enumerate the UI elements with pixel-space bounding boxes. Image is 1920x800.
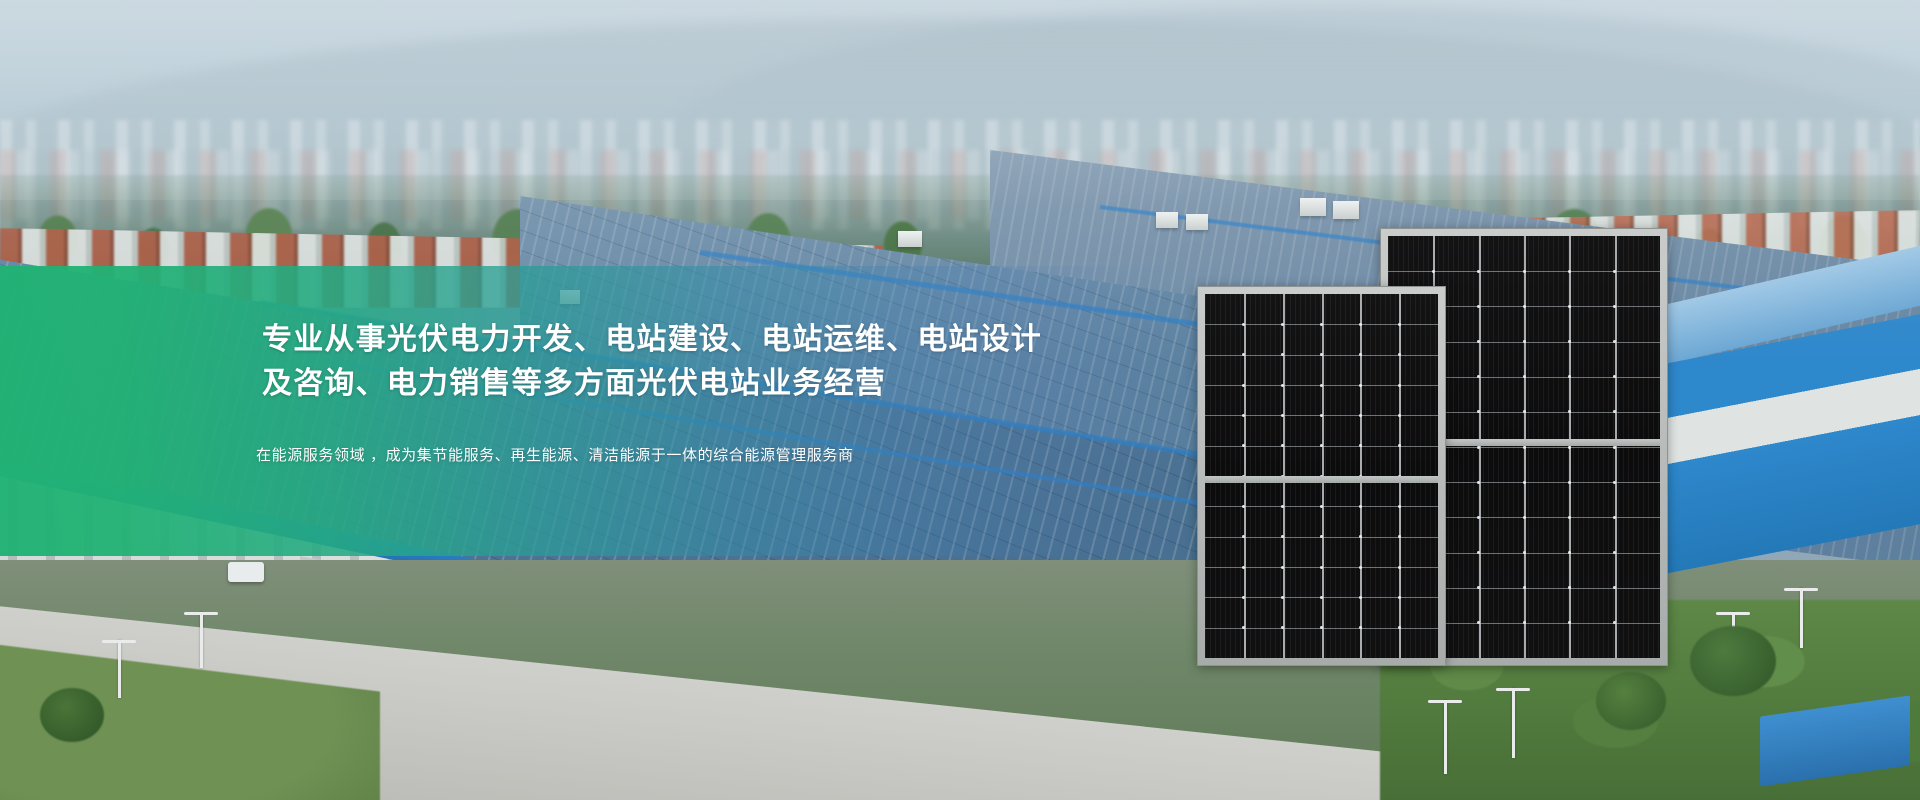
solar-panel-front bbox=[1197, 286, 1446, 666]
rooftop-vent bbox=[1333, 201, 1359, 219]
banner-copy: 专业从事光伏电力开发、电站建设、电站运维、电站设计 及咨询、电力销售等多方面光伏… bbox=[262, 266, 1162, 556]
solar-panel-front-laminate bbox=[1205, 294, 1438, 658]
banner-subheadline: 在能源服务领域 ，成为集节能服务、再生能源、清洁能源于一体的综合能源管理服务商 bbox=[256, 444, 1156, 468]
street-lamp bbox=[1444, 700, 1447, 774]
panel-mid-bar bbox=[1205, 476, 1438, 483]
street-lamp bbox=[118, 640, 121, 698]
hero-banner: 专业从事光伏电力开发、电站建设、电站运维、电站设计 及咨询、电力销售等多方面光伏… bbox=[0, 0, 1920, 800]
rooftop-vent bbox=[1186, 214, 1208, 230]
headline-line-2: 及咨询、电力销售等多方面光伏电站业务经营 bbox=[262, 362, 1142, 406]
rooftop-vent bbox=[1156, 212, 1178, 228]
foreground-tree bbox=[40, 688, 104, 742]
foreground-tree bbox=[1596, 672, 1666, 730]
headline-line-1: 专业从事光伏电力开发、电站建设、电站运维、电站设计 bbox=[262, 318, 1142, 362]
rooftop-vent bbox=[1300, 198, 1326, 216]
banner-headline: 专业从事光伏电力开发、电站建设、电站运维、电站设计 及咨询、电力销售等多方面光伏… bbox=[262, 318, 1142, 406]
foreground-tree bbox=[1690, 626, 1776, 696]
rooftop-vent bbox=[898, 231, 922, 247]
parked-vehicle bbox=[228, 562, 264, 582]
street-lamp bbox=[1512, 688, 1515, 758]
street-lamp bbox=[200, 612, 203, 668]
street-lamp bbox=[1800, 588, 1803, 648]
